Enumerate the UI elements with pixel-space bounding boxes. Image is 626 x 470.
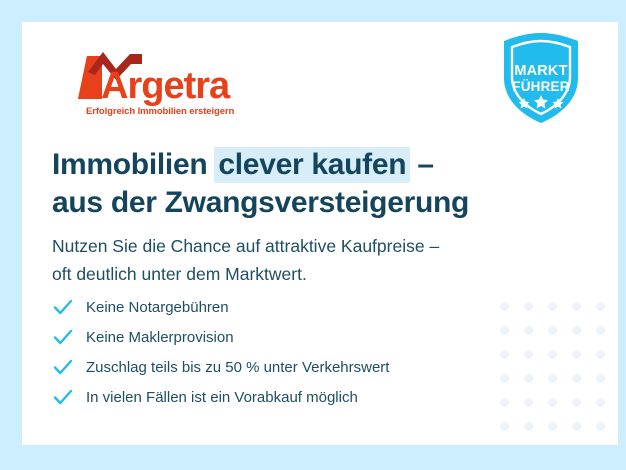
svg-text:MARKT: MARKT xyxy=(514,63,567,79)
dot-decoration xyxy=(516,342,540,366)
dot xyxy=(524,326,533,335)
subtitle-line-1: Nutzen Sie die Chance auf attraktive Kau… xyxy=(52,232,439,260)
dot-decoration xyxy=(588,294,612,318)
dot xyxy=(572,326,581,335)
dot-decoration xyxy=(516,414,540,438)
dot-decoration xyxy=(516,318,540,342)
dot xyxy=(500,422,509,431)
dot-decoration xyxy=(588,438,612,445)
check-icon xyxy=(52,296,74,318)
dot-decoration xyxy=(492,390,516,414)
headline-pre: Immobilien xyxy=(52,148,215,181)
markt-fuehrer-badge[interactable]: MARKT FÜHRER xyxy=(498,30,584,126)
list-item: Keine Notargebühren xyxy=(52,292,389,322)
dot-decoration xyxy=(516,294,540,318)
dot xyxy=(548,302,557,311)
dot-decoration xyxy=(492,318,516,342)
check-icon xyxy=(52,386,74,408)
dot xyxy=(548,374,557,383)
dot xyxy=(548,350,557,359)
list-item-label: Keine Notargebühren xyxy=(86,299,229,316)
dot-decoration xyxy=(492,342,516,366)
dot xyxy=(500,374,509,383)
dot xyxy=(572,302,581,311)
headline-post: – xyxy=(409,148,433,181)
check-icon xyxy=(52,326,74,348)
logo-tagline: Erfolgreich Immobilien ersteigern xyxy=(86,106,234,117)
dot-decoration xyxy=(540,414,564,438)
dot xyxy=(524,422,533,431)
dot-decoration xyxy=(564,414,588,438)
list-item-label: In vielen Fällen ist ein Vorabkauf mögli… xyxy=(86,389,358,406)
headline-highlight: clever kaufen xyxy=(214,147,410,183)
subtitle-line-2: oft deutlich unter dem Marktwert. xyxy=(52,260,439,288)
dot xyxy=(524,350,533,359)
dot-decoration xyxy=(492,366,516,390)
dot xyxy=(524,374,533,383)
dot-decoration xyxy=(588,366,612,390)
headline-line-2: aus der Zwangsversteigerung xyxy=(52,184,469,222)
page-title: Immobilien clever kaufen – aus der Zwang… xyxy=(52,146,469,222)
dot-decoration xyxy=(540,318,564,342)
dot xyxy=(500,302,509,311)
dot-decoration xyxy=(564,366,588,390)
dot xyxy=(572,398,581,407)
list-item: Zuschlag teils bis zu 50 % unter Verkehr… xyxy=(52,352,389,382)
svg-text:Argetra: Argetra xyxy=(101,65,231,107)
dot-decoration xyxy=(564,294,588,318)
ad-card: Argetra Erfolgreich Immobilien ersteiger… xyxy=(22,22,618,445)
dot-decoration xyxy=(492,414,516,438)
dot-decoration xyxy=(540,366,564,390)
dot xyxy=(500,350,509,359)
dot-decoration xyxy=(540,342,564,366)
dot xyxy=(524,302,533,311)
list-item: Keine Maklerprovision xyxy=(52,322,389,352)
dot-decoration xyxy=(516,438,540,445)
dot xyxy=(596,350,605,359)
dot xyxy=(572,350,581,359)
benefits-list: Keine NotargebührenKeine Maklerprovision… xyxy=(52,292,389,412)
ad-frame: Argetra Erfolgreich Immobilien ersteiger… xyxy=(0,0,626,470)
list-item-label: Keine Maklerprovision xyxy=(86,329,234,346)
check-icon xyxy=(52,356,74,378)
dot xyxy=(596,374,605,383)
subtitle: Nutzen Sie die Chance auf attraktive Kau… xyxy=(52,232,439,288)
dot-decoration xyxy=(492,438,516,445)
dot xyxy=(548,422,557,431)
dot-grid-decoration xyxy=(492,294,612,445)
dot-decoration xyxy=(588,342,612,366)
dot-decoration xyxy=(540,390,564,414)
dot xyxy=(548,326,557,335)
dot xyxy=(572,422,581,431)
argetra-logo[interactable]: Argetra Erfolgreich Immobilien ersteiger… xyxy=(56,42,236,124)
dot-decoration xyxy=(516,390,540,414)
dot-decoration xyxy=(588,318,612,342)
dot xyxy=(548,398,557,407)
dot xyxy=(572,374,581,383)
list-item-label: Zuschlag teils bis zu 50 % unter Verkehr… xyxy=(86,359,389,376)
dot xyxy=(524,398,533,407)
dot-decoration xyxy=(540,438,564,445)
dot-decoration xyxy=(516,366,540,390)
dot-decoration xyxy=(588,390,612,414)
dot xyxy=(596,398,605,407)
dot-decoration xyxy=(564,318,588,342)
dot-decoration xyxy=(564,342,588,366)
headline-line-1: Immobilien clever kaufen – xyxy=(52,146,469,184)
dot-decoration xyxy=(492,294,516,318)
dot-decoration xyxy=(564,390,588,414)
dot xyxy=(596,422,605,431)
dot-decoration xyxy=(564,438,588,445)
dot-decoration xyxy=(588,414,612,438)
dot-decoration xyxy=(540,294,564,318)
dot xyxy=(500,398,509,407)
list-item: In vielen Fällen ist ein Vorabkauf mögli… xyxy=(52,382,389,412)
dot xyxy=(596,326,605,335)
dot xyxy=(500,326,509,335)
svg-text:FÜHRER: FÜHRER xyxy=(512,79,569,94)
dot xyxy=(596,302,605,311)
